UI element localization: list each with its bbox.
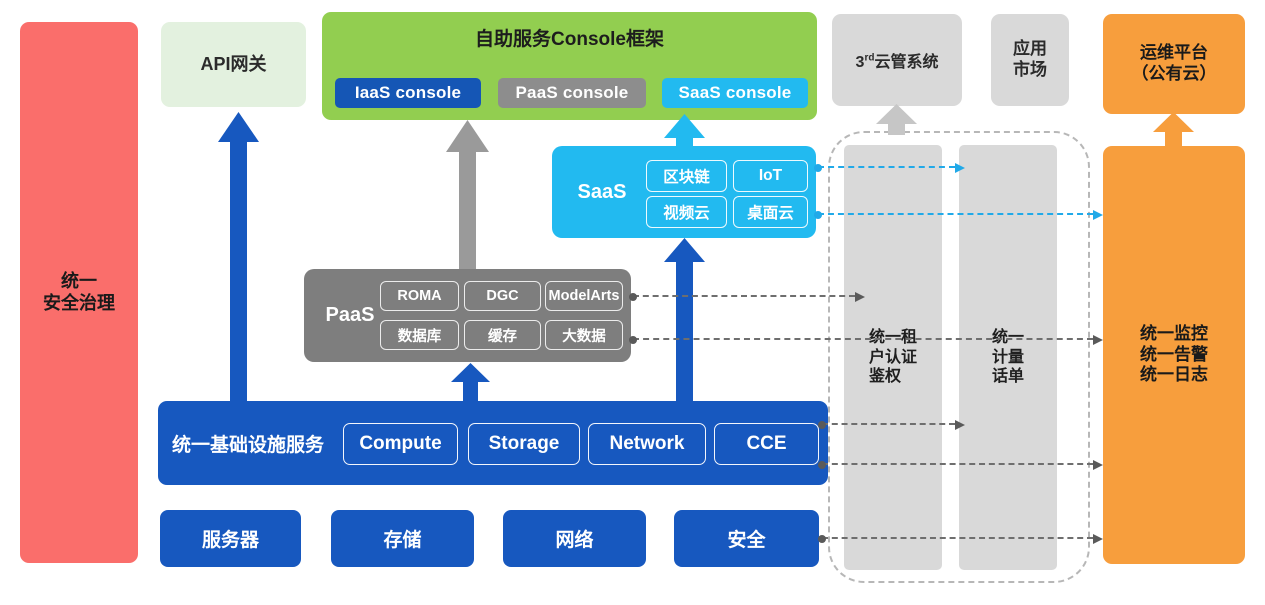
saas-chip-video-cloud[interactable]: 视频云	[646, 196, 727, 228]
infra-label-server: 服务器	[202, 525, 259, 552]
connector-start-dot	[818, 461, 826, 469]
iaas-chip-compute[interactable]: Compute	[343, 423, 458, 465]
connector-start-dot	[818, 421, 826, 429]
connector-arrowhead	[1093, 210, 1103, 220]
paas-chip-cache[interactable]: 缓存	[464, 320, 541, 350]
infra-box-storage: 存储	[331, 510, 474, 567]
saas-chip-blockchain[interactable]: 区块链	[646, 160, 727, 192]
connector-infra-to-ops-monitor	[822, 537, 1093, 539]
infra-box-network: 网络	[503, 510, 646, 567]
paas-chip-roma[interactable]: ROMA	[380, 281, 459, 311]
unified-security-governance-label: 统一 安全治理	[43, 271, 115, 315]
infra-label-storage: 存储	[383, 525, 421, 552]
unified-security-governance-panel: 统一 安全治理	[20, 22, 138, 563]
paas-chip-database[interactable]: 数据库	[380, 320, 459, 350]
connector-saas-to-metering	[818, 166, 955, 168]
connector-arrowhead	[1093, 460, 1103, 470]
arrow-iaas-to-saas	[664, 238, 705, 401]
infra-box-security: 安全	[674, 510, 819, 567]
connector-arrowhead	[855, 292, 865, 302]
infra-label-network: 网络	[555, 525, 593, 552]
iaas-console-chip[interactable]: IaaS console	[335, 78, 481, 108]
arrow-iaas-to-api-gateway	[218, 112, 259, 401]
iaas-chip-storage[interactable]: Storage	[468, 423, 580, 465]
saas-layer-box: SaaS 区块链 IoT 视频云 桌面云	[552, 146, 816, 238]
connector-iaas-to-auth	[822, 423, 955, 425]
connector-start-dot	[814, 211, 822, 219]
connector-saas-to-ops-monitor	[818, 213, 1093, 215]
unified-monitoring-panel: 统一监控 统一告警 统一日志	[1103, 146, 1245, 564]
iaas-chip-network[interactable]: Network	[588, 423, 706, 465]
connector-arrowhead	[955, 163, 965, 173]
connector-arrowhead	[955, 420, 965, 430]
paas-chip-dgc[interactable]: DGC	[464, 281, 541, 311]
connector-start-dot	[814, 164, 822, 172]
ops-platform-label: 运维平台 （公有云）	[1132, 43, 1217, 84]
saas-console-chip[interactable]: SaaS console	[662, 78, 808, 108]
arrow-iaas-to-paas	[451, 363, 490, 401]
connector-start-dot	[818, 535, 826, 543]
paas-console-chip[interactable]: PaaS console	[498, 78, 646, 108]
unified-infrastructure-service-label: 统一基础设施服务	[172, 401, 324, 485]
unified-tenant-auth-label: 统一租 户认证 鉴权	[869, 328, 917, 387]
unified-tenant-auth-column: 统一租 户认证 鉴权	[844, 145, 942, 570]
saas-chip-desktop-cloud[interactable]: 桌面云	[733, 196, 808, 228]
unified-metering-billing-column: 统一 计量 话单	[959, 145, 1057, 570]
connector-paas-to-ops-monitor	[633, 338, 1093, 340]
third-party-label: 3rd云管系统	[856, 48, 939, 72]
saas-layer-label: SaaS	[566, 146, 638, 238]
arrow-paas-to-console	[446, 120, 489, 269]
infra-box-server: 服务器	[160, 510, 301, 567]
api-gateway-box: API网关	[161, 22, 306, 107]
app-market-box: 应用 市场	[991, 14, 1069, 106]
unified-infrastructure-service-bar: 统一基础设施服务 Compute Storage Network CCE	[158, 401, 828, 485]
iaas-chip-cce[interactable]: CCE	[714, 423, 819, 465]
paas-chip-modelarts[interactable]: ModelArts	[545, 281, 623, 311]
connector-start-dot	[629, 293, 637, 301]
ops-platform-public-cloud-box: 运维平台 （公有云）	[1103, 14, 1245, 114]
app-market-label: 应用 市场	[1013, 39, 1047, 80]
unified-monitoring-label: 统一监控 统一告警 统一日志	[1140, 324, 1208, 386]
connector-iaas-to-ops-monitor	[822, 463, 1093, 465]
unified-metering-billing-label: 统一 计量 话单	[992, 328, 1024, 387]
connector-arrowhead	[1093, 534, 1103, 544]
arrow-ops-monitor-to-ops-platform	[1153, 112, 1194, 146]
connector-arrowhead	[1093, 335, 1103, 345]
paas-layer-box: PaaS ROMA DGC ModelArts 数据库 缓存 大数据	[304, 269, 631, 362]
saas-chip-iot[interactable]: IoT	[733, 160, 808, 192]
api-gateway-label: API网关	[200, 54, 266, 76]
self-service-console-framework-panel: 自助服务Console框架 IaaS console PaaS console …	[322, 12, 817, 120]
third-party-cloud-management-box: 3rd云管系统	[832, 14, 962, 106]
architecture-diagram-canvas: 统一 安全治理 API网关 自助服务Console框架 IaaS console…	[0, 0, 1265, 605]
console-framework-title: 自助服务Console框架	[322, 12, 817, 62]
infra-label-security: 安全	[727, 525, 765, 552]
paas-layer-label: PaaS	[314, 269, 386, 362]
connector-paas-to-auth	[633, 295, 855, 297]
paas-chip-bigdata[interactable]: 大数据	[545, 320, 623, 350]
connector-start-dot	[629, 336, 637, 344]
